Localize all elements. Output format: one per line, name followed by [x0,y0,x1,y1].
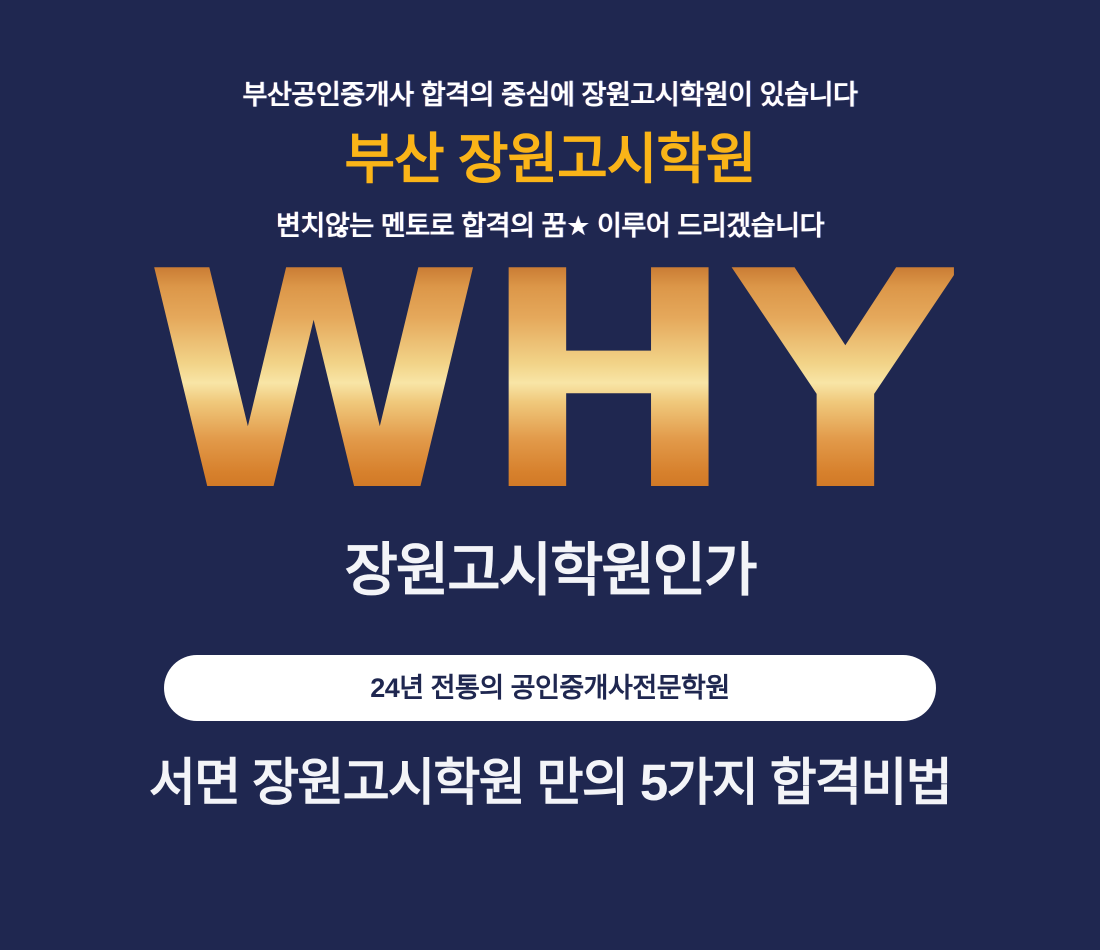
closing-headline: 서면 장원고시학원 만의 5가지 합격비법 [149,757,951,808]
tradition-badge-label: 24년 전통의 공인중개사전문학원 [370,675,729,702]
hero-word-container: WHY [153,258,946,508]
eyebrow-text: 부산공인중개사 합격의 중심에 장원고시학원이 있습니다 [243,82,858,109]
promo-banner: 부산공인중개사 합격의 중심에 장원고시학원이 있습니다 부산 장원고시학원 변… [0,0,1100,950]
hero-word-why: WHY [145,266,954,500]
academy-brand-name: 부산 장원고시학원 [344,132,755,187]
tradition-badge: 24년 전통의 공인중개사전문학원 [164,655,936,721]
